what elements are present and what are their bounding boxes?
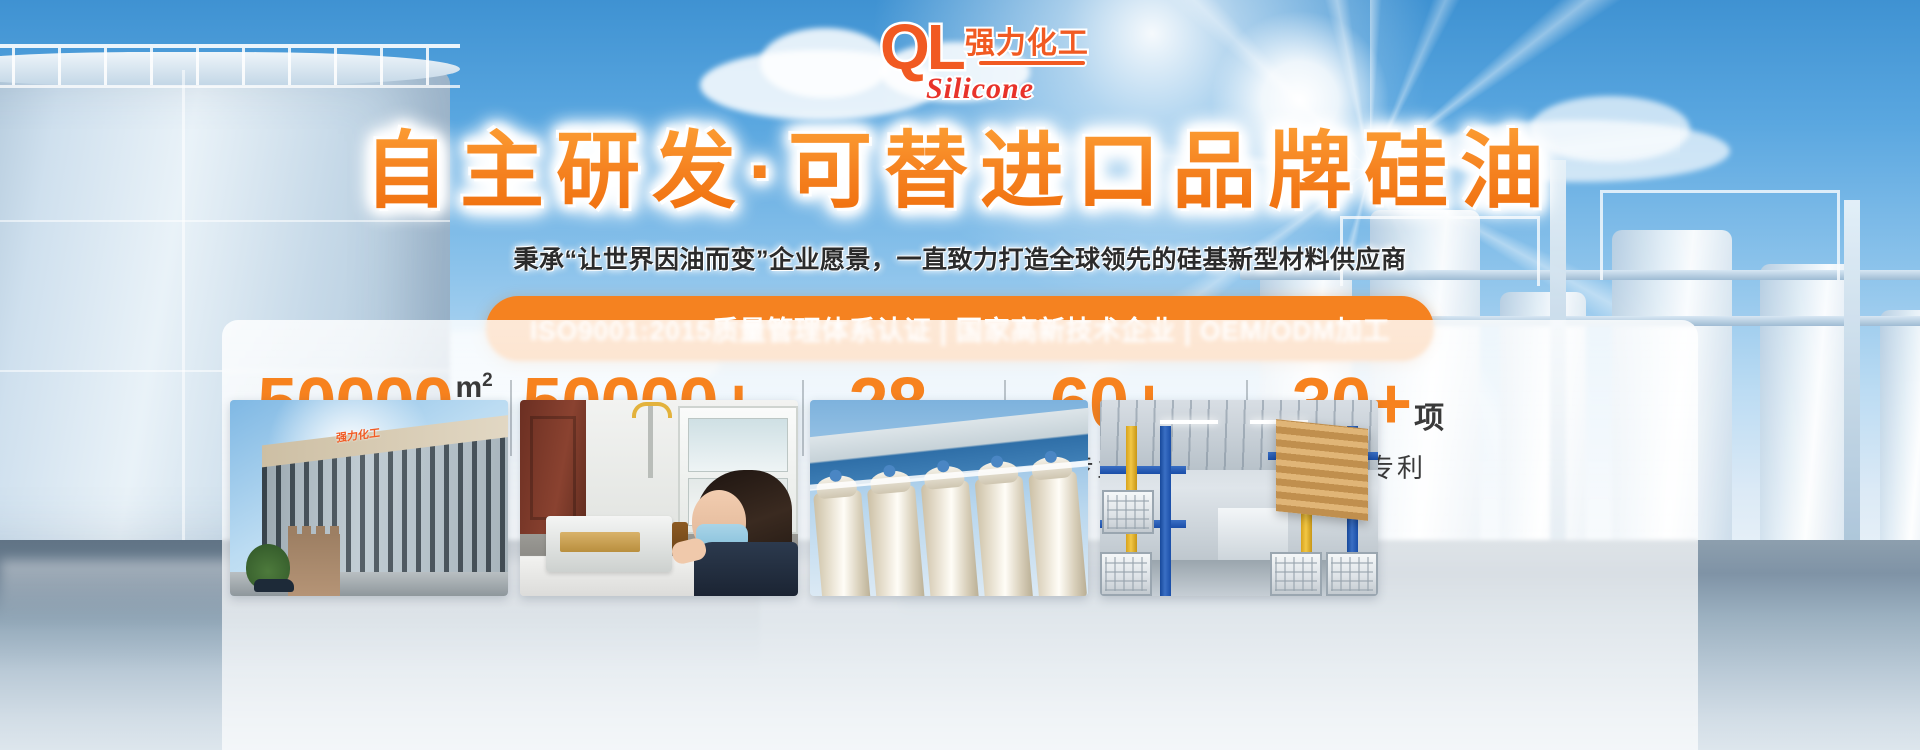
car-icon bbox=[254, 579, 294, 592]
logo-mark-ql: QL bbox=[880, 18, 963, 77]
rack-column bbox=[1160, 426, 1171, 596]
logo-underline bbox=[979, 61, 1085, 65]
office-building-photo[interactable]: 强力化工 bbox=[230, 400, 508, 596]
company-logo[interactable]: QL 强力化工 Silicone bbox=[880, 18, 1060, 104]
tank-cluster bbox=[810, 434, 1088, 596]
tank-railing bbox=[0, 44, 460, 88]
page-title: 自主研发·可替进口品牌硅油 bbox=[0, 104, 1920, 225]
rack-beam bbox=[1100, 466, 1186, 474]
warehouse-photo[interactable] bbox=[1100, 400, 1378, 596]
wooden-pallet-stack bbox=[1276, 419, 1368, 521]
storage-tank-farm-photo[interactable] bbox=[810, 400, 1088, 596]
entrance-gate bbox=[288, 534, 340, 596]
ibc-tote bbox=[1270, 552, 1322, 596]
lab-instrument bbox=[546, 516, 672, 572]
logo-chinese-name: 强力化工 bbox=[965, 27, 1089, 60]
laboratory-photo[interactable] bbox=[520, 400, 798, 596]
photo-strip: 强力化工 bbox=[228, 400, 1698, 608]
ibc-tote bbox=[1100, 552, 1152, 596]
technician-uniform bbox=[694, 542, 798, 596]
ibc-tote bbox=[1326, 552, 1378, 596]
logo-silicone-script: Silicone bbox=[926, 72, 1034, 106]
hero-banner: QL 强力化工 Silicone 自主研发·可替进口品牌硅油 秉承“让世界因油而… bbox=[0, 0, 1920, 750]
lab-clamp-icon bbox=[632, 402, 672, 418]
page-subtitle: 秉承“让世界因油而变”企业愿景，一直致力打造全球领先的硅基新型材料供应商 bbox=[0, 240, 1920, 276]
ibc-tote bbox=[1102, 490, 1154, 534]
cloud-icon bbox=[760, 28, 890, 98]
ceiling-light-icon bbox=[1160, 420, 1218, 424]
